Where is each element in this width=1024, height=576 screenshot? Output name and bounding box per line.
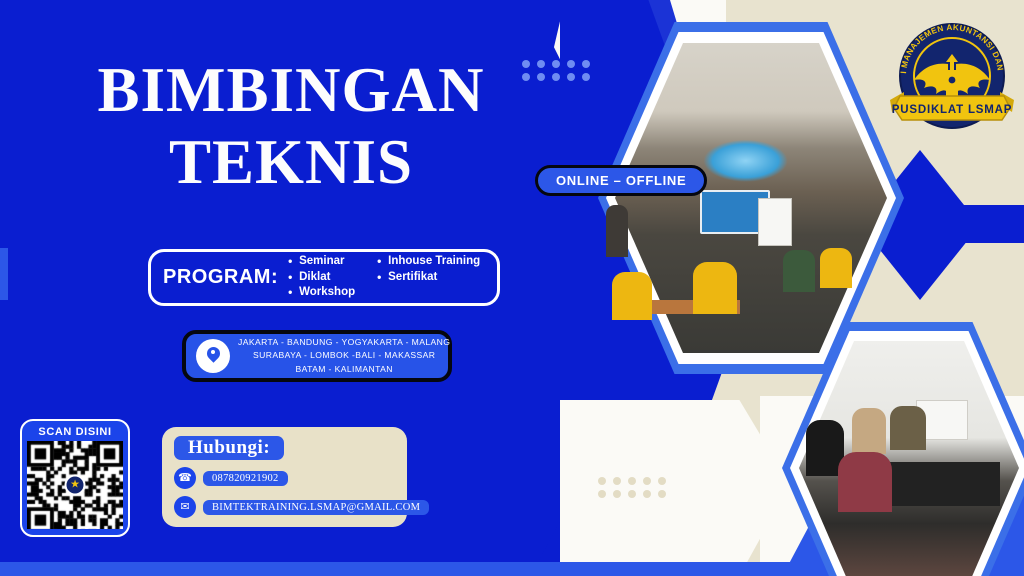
contact-phone-row[interactable]: ☎ 087820921902: [174, 467, 395, 489]
phone-icon: ☎: [174, 467, 196, 489]
location-line: SURABAYA - LOMBOK -BALI - MAKASSAR: [238, 349, 450, 362]
program-item: Diklat: [288, 270, 355, 285]
dot-grid-bottom: [598, 477, 666, 498]
title-line-2: TEKNIS: [56, 130, 526, 194]
location-line: BATAM - KALIMANTAN: [238, 363, 450, 376]
program-column-1: Seminar Diklat Workshop: [288, 254, 355, 300]
blue-tail-right: [950, 205, 1024, 243]
program-item: Inhouse Training: [377, 254, 480, 269]
location-city-list: JAKARTA - BANDUNG - YOGYAKARTA - MALANG …: [238, 336, 450, 375]
contact-email-value[interactable]: BIMTEKTRAINING.LSMAP@GMAIL.COM: [203, 500, 429, 515]
poster-canvas: BIMBINGAN TEKNIS PROGRAM: Seminar Diklat…: [0, 0, 1024, 576]
title-line-1: BIMBINGAN: [56, 58, 526, 122]
location-line: JAKARTA - BANDUNG - YOGYAKARTA - MALANG: [238, 336, 450, 349]
mode-badge: ONLINE – OFFLINE: [535, 165, 707, 196]
contact-phone-value[interactable]: 087820921902: [203, 471, 288, 486]
program-label: PROGRAM:: [163, 266, 278, 289]
contact-email-row[interactable]: ✉ BIMTEKTRAINING.LSMAP@GMAIL.COM: [174, 496, 395, 518]
lsmap-eagle-icon: ★: [65, 475, 86, 496]
contact-heading: Hubungi:: [174, 436, 284, 460]
qr-label: SCAN DISINI: [38, 426, 111, 438]
program-item: Seminar: [288, 254, 355, 269]
envelope-icon: ✉: [174, 496, 196, 518]
logo-ribbon-text: PUSDIKLAT LSMAP: [892, 104, 1012, 116]
program-item: Sertifikat: [377, 270, 480, 285]
program-box: PROGRAM: Seminar Diklat Workshop Inhouse…: [148, 249, 500, 306]
program-columns: Seminar Diklat Workshop Inhouse Training…: [288, 254, 480, 300]
map-pin-icon: [196, 339, 230, 373]
contact-card: Hubungi: ☎ 087820921902 ✉ BIMTEKTRAINING…: [162, 427, 407, 527]
qr-card[interactable]: SCAN DISINI ★: [20, 419, 130, 537]
program-column-2: Inhouse Training Sertifikat: [377, 254, 480, 300]
program-item: Workshop: [288, 285, 355, 300]
blue-notch-left: [0, 248, 8, 300]
page-title: BIMBINGAN TEKNIS: [56, 58, 526, 195]
qr-code[interactable]: ★: [27, 441, 123, 529]
dot-grid-top: [522, 60, 590, 81]
location-box: JAKARTA - BANDUNG - YOGYAKARTA - MALANG …: [182, 330, 452, 382]
organization-logo: LEMBAGA STUDI MANAJEMEN AKUNTANSI DAN PE…: [884, 4, 1020, 136]
